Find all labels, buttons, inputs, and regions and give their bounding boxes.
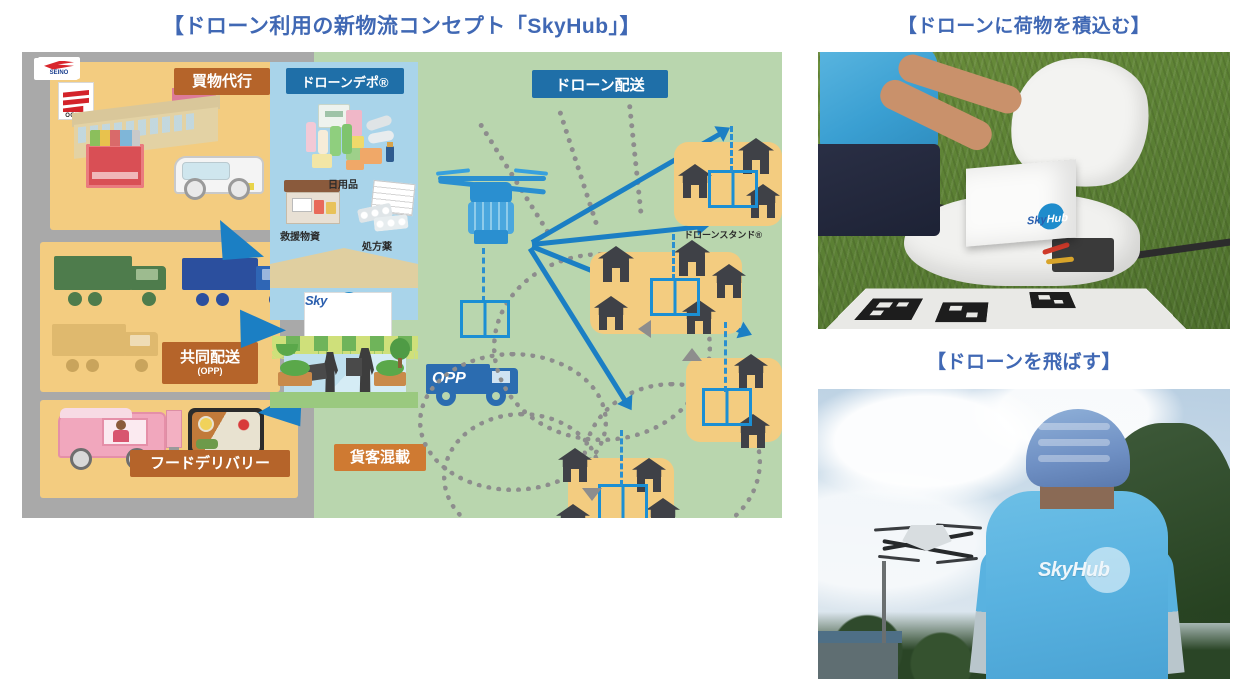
shirt-logo-text: SkyHub <box>1038 559 1109 582</box>
soap-icon <box>312 154 332 168</box>
food-truck-wheel-front <box>70 448 92 470</box>
truck-wheel-2 <box>86 359 99 372</box>
drone-battery <box>1052 238 1114 272</box>
skyhub-parcel-box: SkyHub <box>966 159 1076 247</box>
house-icon <box>598 246 634 282</box>
bento-greens <box>196 439 218 449</box>
seino-logo: SEINO <box>38 57 80 79</box>
drone-propeller-right <box>514 168 548 176</box>
supply-crate <box>360 148 382 164</box>
page-title-main: 【ドローン利用の新物流コンセプト「SkyHub」】 <box>22 10 782 40</box>
drone-stand-pad-south <box>598 484 648 518</box>
truck-wheel-2 <box>216 293 229 306</box>
skyhub-logo-sky: Sky <box>305 293 391 339</box>
supply-pad-1 <box>365 114 393 132</box>
truck-box <box>182 258 258 290</box>
bento-lemon <box>198 416 214 432</box>
helmet-vent-2 <box>1038 439 1110 446</box>
vendor-body <box>113 430 129 442</box>
drone-cargo-box <box>474 230 508 244</box>
house-icon <box>738 138 774 174</box>
relief-box-tag <box>292 198 312 212</box>
direction-marker-east <box>682 348 702 361</box>
label-daily-goods: 日用品 <box>328 176 358 191</box>
truck-box <box>52 324 126 356</box>
seino-mark-icon <box>44 61 74 70</box>
drop-line-depot <box>482 248 485 302</box>
photo-loading-parcel: SkyHub <box>818 52 1230 329</box>
drone-stand-pad-east <box>702 388 752 426</box>
drop-line-south <box>620 430 623 486</box>
photo-drone-flight: SkyHub <box>818 389 1230 679</box>
bento-box-icon <box>188 408 264 456</box>
page-root: 【ドローン利用の新物流コンセプト「SkyHub」】 【ドローンに荷物を積込む】 … <box>0 0 1238 700</box>
storefront-ground <box>270 392 418 408</box>
house-icon <box>558 448 592 482</box>
house-icon <box>556 504 590 518</box>
operator-figure: SkyHub <box>986 429 1168 679</box>
drone-stand-pad-middle <box>650 278 700 316</box>
shed-roof <box>818 631 902 643</box>
van-wheel-front <box>184 178 206 200</box>
chip-drone-delivery: ドローン配送 <box>532 70 668 98</box>
shopping-basket-icon <box>86 144 144 188</box>
chip-drone-delivery-label: ドローン配送 <box>555 74 644 95</box>
truck-box <box>54 256 132 290</box>
drone-stand-pad-depot <box>460 300 510 338</box>
tree-crown <box>390 338 410 360</box>
yamato-truck-icon <box>54 256 172 308</box>
skyhub-logo: Sky Hub <box>337 292 360 314</box>
truck-wheel-3 <box>142 292 156 306</box>
food-stand-sign <box>166 410 182 448</box>
shed-building <box>818 639 898 679</box>
drop-line-east <box>724 322 727 392</box>
truck-wheel-2 <box>88 292 102 306</box>
chip-drone-depot: ドローンデポ® <box>286 68 404 94</box>
page-title-flying-photo: 【ドローンを飛ばす】 <box>818 347 1230 374</box>
drop-line-middle <box>672 234 675 280</box>
tree-trunk <box>398 358 402 368</box>
relief-can-1 <box>314 200 324 214</box>
chip-food-label: フードデリバリー <box>150 456 270 472</box>
chip-mixed-passenger-cargo: 貨客混載 <box>334 444 426 471</box>
drop-line-northeast <box>730 126 733 172</box>
operator-shirt-logo: SkyHub <box>1038 547 1130 593</box>
ar-marker-3 <box>1029 292 1076 308</box>
truck-window <box>136 269 158 280</box>
direction-marker-middle <box>638 320 651 338</box>
house-icon <box>734 354 768 388</box>
helmet-vent-3 <box>1038 455 1110 462</box>
chip-joint-label: 共同配送 <box>180 350 240 366</box>
quad-prop-4 <box>936 557 978 564</box>
worker-pants <box>818 144 940 236</box>
kei-van-icon <box>174 150 260 202</box>
truck-wheel-1 <box>68 292 82 306</box>
food-truck-roof <box>60 408 132 418</box>
worker-figure <box>818 52 940 246</box>
bottle-2-icon <box>318 130 328 154</box>
truck-wheel-1 <box>196 293 209 306</box>
truck-wheel-1 <box>66 359 79 372</box>
bottle-4-icon <box>342 124 352 154</box>
house-icon <box>712 264 746 298</box>
van-window <box>182 162 230 180</box>
quad-prop-3 <box>878 555 920 562</box>
page-title-loading-photo: 【ドローンに荷物を積込む】 <box>818 11 1230 38</box>
chip-mixed-label: 貨客混載 <box>350 450 410 466</box>
drone-body <box>470 182 512 204</box>
seino-truck-icon <box>52 324 164 374</box>
flying-quadcopter <box>874 517 982 567</box>
pill-blister-2 <box>373 214 408 231</box>
concept-diagram: OGINO 買物代行 <box>22 52 782 518</box>
vendor-head <box>116 420 126 430</box>
chip-drone-depot-label: ドローンデポ® <box>302 72 389 91</box>
medicine-vial-icon <box>386 146 394 162</box>
chip-shopping-label: 買物代行 <box>192 74 252 90</box>
chip-food-delivery: フードデリバリー <box>130 450 290 477</box>
utility-pole <box>882 561 886 643</box>
daily-goods-illustration <box>300 104 406 174</box>
relief-can-2 <box>326 202 336 214</box>
label-relief-supplies: 救援物資 <box>280 228 320 243</box>
ar-marker-1 <box>854 298 923 320</box>
house-icon <box>678 164 712 198</box>
parcel-logo-text: SkyHub <box>1027 212 1068 228</box>
bottle-1-icon <box>306 122 316 152</box>
chip-joint-delivery: 共同配送 (OPP) <box>162 342 258 384</box>
truck-wheel-3 <box>135 359 148 372</box>
skyhub-kosuge-sign: Sky Hub こすげ <box>304 292 392 340</box>
bottle-3-icon <box>330 126 341 156</box>
storefront-roof <box>270 248 418 288</box>
food-vendor-icon <box>112 420 130 442</box>
truck-window <box>130 335 150 346</box>
house-icon <box>674 240 710 276</box>
direction-marker-south <box>582 488 602 501</box>
prescription-illustration <box>358 182 414 234</box>
drone-stand-pad-northeast <box>708 170 758 208</box>
house-icon <box>594 296 628 330</box>
helmet-vent-1 <box>1038 423 1110 430</box>
ar-marker-2 <box>935 302 989 322</box>
carried-parcel-2 <box>346 358 362 376</box>
chip-shopping-agency: 買物代行 <box>174 68 270 95</box>
chip-joint-sublabel: (OPP) <box>197 367 222 376</box>
ogino-mark-icon <box>63 90 89 112</box>
seino-logo-text: SEINO <box>50 70 69 76</box>
house-icon <box>646 498 680 518</box>
tree-icon <box>390 338 410 368</box>
plant-left <box>280 360 310 376</box>
drone-propeller-left <box>436 168 470 176</box>
van-wheel-rear <box>228 178 250 200</box>
delivery-drone-icon <box>436 160 548 252</box>
